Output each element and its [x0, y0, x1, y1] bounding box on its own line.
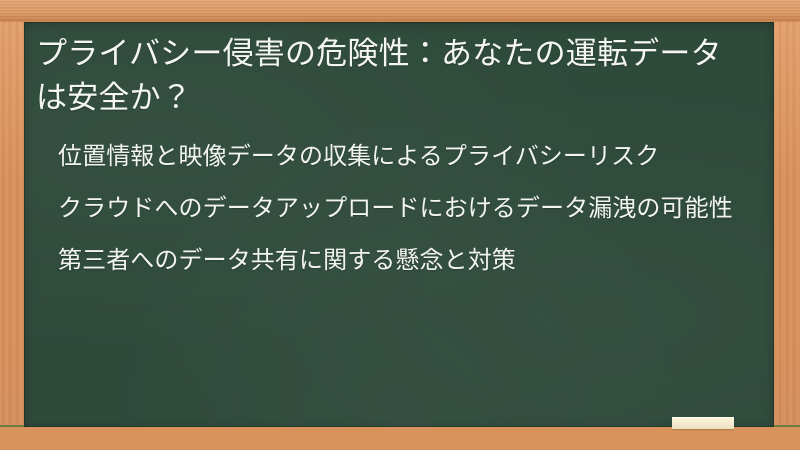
bullet-item-1: 位置情報と映像データの収集によるプライバシーリスク — [58, 138, 738, 176]
bullet-item-3: 第三者へのデータ共有に関する懸念と対策 — [58, 242, 738, 280]
slide-title: プライバシー侵害の危険性：あなたの運転データは安全か？ — [36, 32, 750, 120]
chalkboard-surface: プライバシー侵害の危険性：あなたの運転データは安全か？ 位置情報と映像データの収… — [24, 22, 774, 427]
chalkboard-slide: プライバシー侵害の危険性：あなたの運転データは安全か？ 位置情報と映像データの収… — [0, 0, 800, 450]
chalkboard-content: プライバシー侵害の危険性：あなたの運転データは安全か？ 位置情報と映像データの収… — [24, 22, 774, 280]
wooden-frame-top-rail — [0, 0, 800, 22]
bullet-list: 位置情報と映像データの収集によるプライバシーリスク クラウドへのデータアップロー… — [36, 138, 750, 280]
chalkboard-eraser — [672, 417, 734, 429]
bullet-item-2: クラウドへのデータアップロードにおけるデータ漏洩の可能性 — [58, 190, 738, 228]
